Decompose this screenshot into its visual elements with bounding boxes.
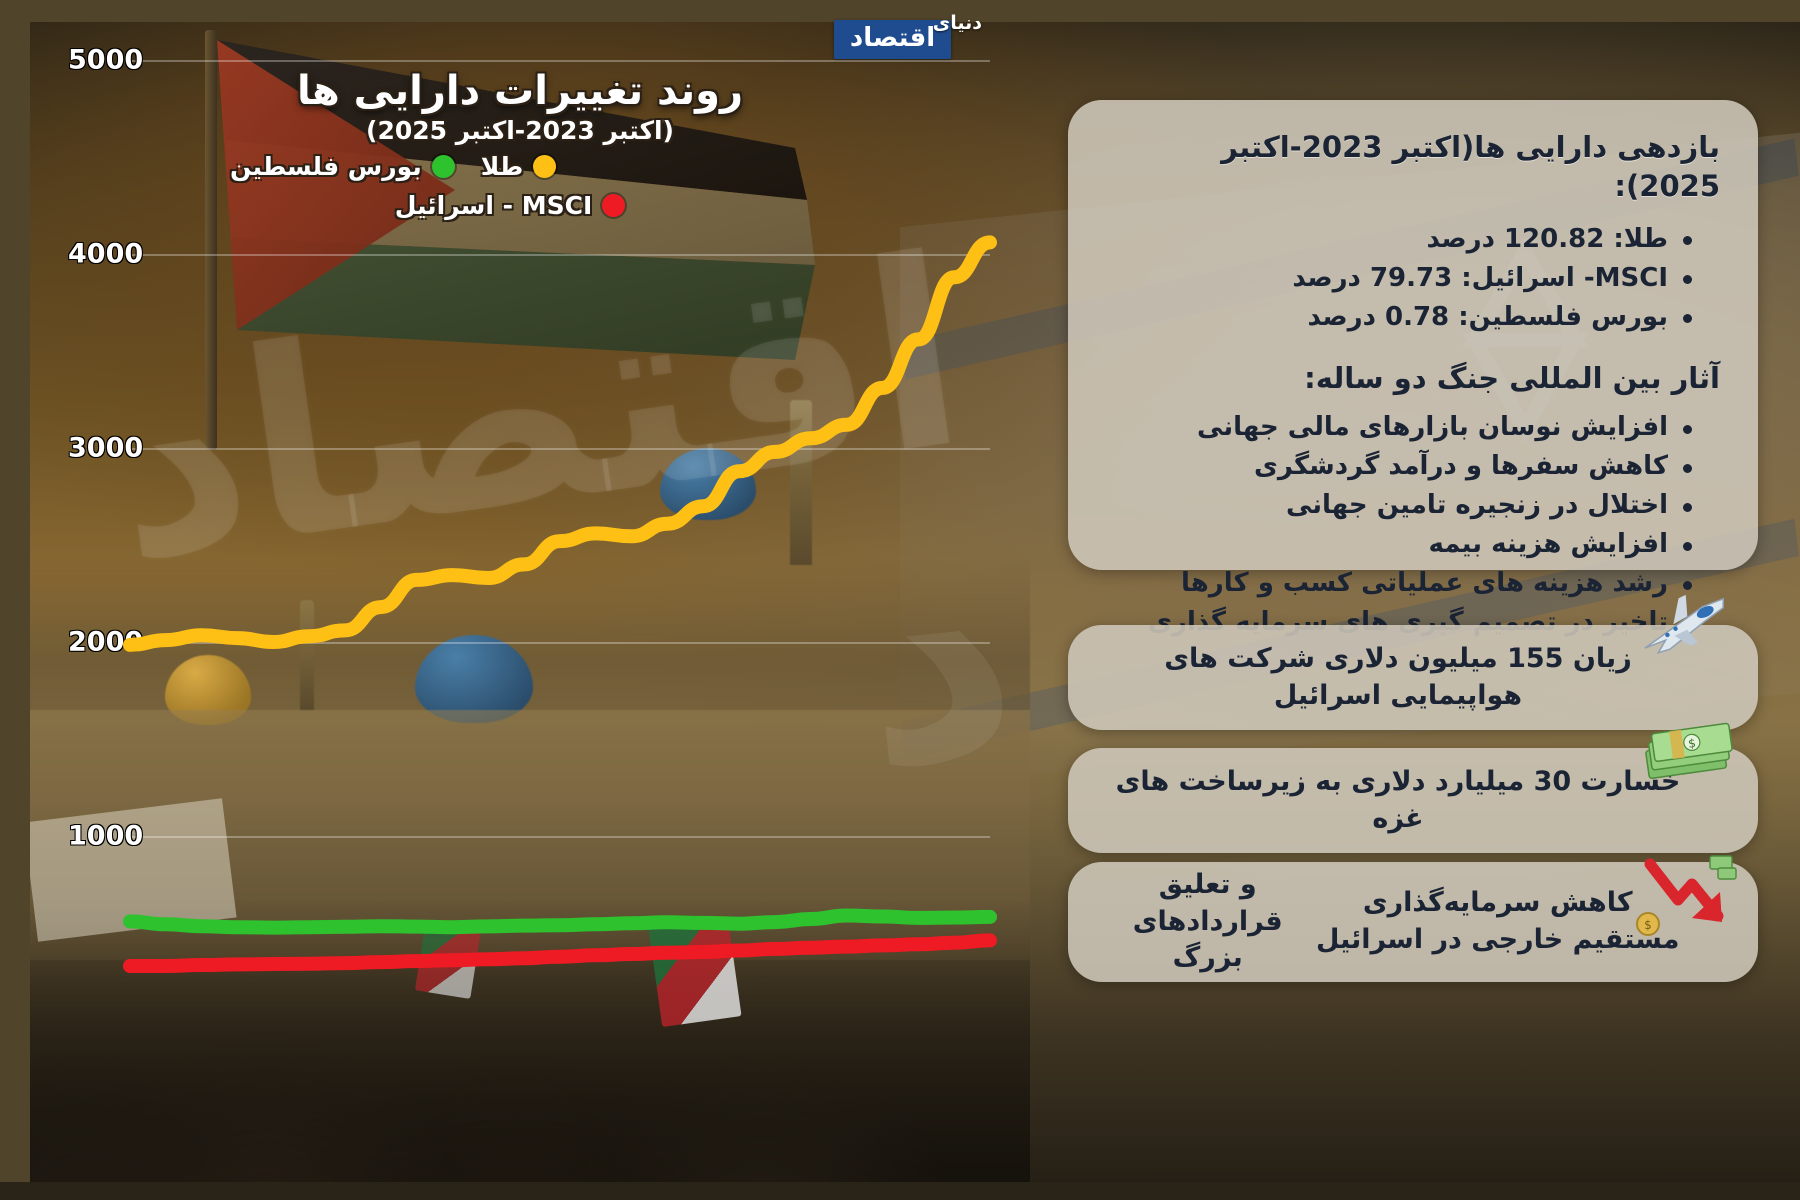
legend-label-msci: MSCI - اسرائیل xyxy=(395,191,593,220)
svg-text:$: $ xyxy=(1644,918,1652,932)
summary-panel: بازدهی دارایی ها(اکتبر 2023-اکتبر 2025):… xyxy=(1068,100,1758,570)
chart-legend: طلا بورس فلسطین MSCI - اسرائیل xyxy=(230,152,790,220)
chart-subtitle: (اکتبر 2023-اکتبر 2025) xyxy=(255,116,785,145)
legend-dot-green-icon xyxy=(432,155,455,178)
return-item-0: طلا: 120.82 درصد xyxy=(1106,220,1694,259)
panel-heading-returns: بازدهی دارایی ها(اکتبر 2023-اکتبر 2025): xyxy=(1106,128,1720,206)
chart-down-icon: $ xyxy=(1632,850,1737,945)
series-line-بورس فلسطین xyxy=(130,916,990,928)
frame-bottom xyxy=(0,1182,1800,1200)
legend-label-palestine: بورس فلسطین xyxy=(230,152,422,181)
effect-item-2: اختلال در زنجیره تامین جهانی xyxy=(1106,486,1694,525)
legend-item-palestine[interactable]: بورس فلسطین xyxy=(230,152,455,181)
chart-title: روند تغییرات دارایی ها xyxy=(255,68,785,114)
series-line-MSCI - اسرائیل xyxy=(130,940,990,966)
infographic-root: اقتصاد د دنیای اقتصاد 5000 4000 3000 200… xyxy=(0,0,1800,1200)
return-item-2: بورس فلسطین: 0.78 درصد xyxy=(1106,298,1694,337)
returns-list: طلا: 120.82 درصدMSCI- اسرائیل: 79.73 درص… xyxy=(1106,220,1694,337)
effect-item-3: افزایش هزینه بیمه xyxy=(1106,525,1694,564)
effect-item-4: رشد هزینه های عملیاتی کسب و کارها xyxy=(1106,564,1694,603)
effects-list: افزایش نوسان بازارهای مالی جهانیکاهش سفر… xyxy=(1106,408,1694,642)
legend-item-msci[interactable]: MSCI - اسرائیل xyxy=(395,191,626,220)
legend-dot-red-icon xyxy=(602,194,625,217)
legend-dot-gold-icon xyxy=(533,155,556,178)
panel-heading-effects: آثار بین المللی جنگ دو ساله: xyxy=(1106,359,1720,398)
effect-item-0: افزایش نوسان بازارهای مالی جهانی xyxy=(1106,408,1694,447)
return-item-1: MSCI- اسرائیل: 79.73 درصد xyxy=(1106,259,1694,298)
legend-item-gold[interactable]: طلا xyxy=(481,152,557,181)
legend-label-gold: طلا xyxy=(481,152,524,181)
series-line-طلا xyxy=(130,242,990,645)
frame-left xyxy=(0,0,30,1200)
effect-item-1: کاهش سفرها و درآمد گردشگری xyxy=(1106,447,1694,486)
money-stack-icon: $ xyxy=(1638,715,1738,787)
